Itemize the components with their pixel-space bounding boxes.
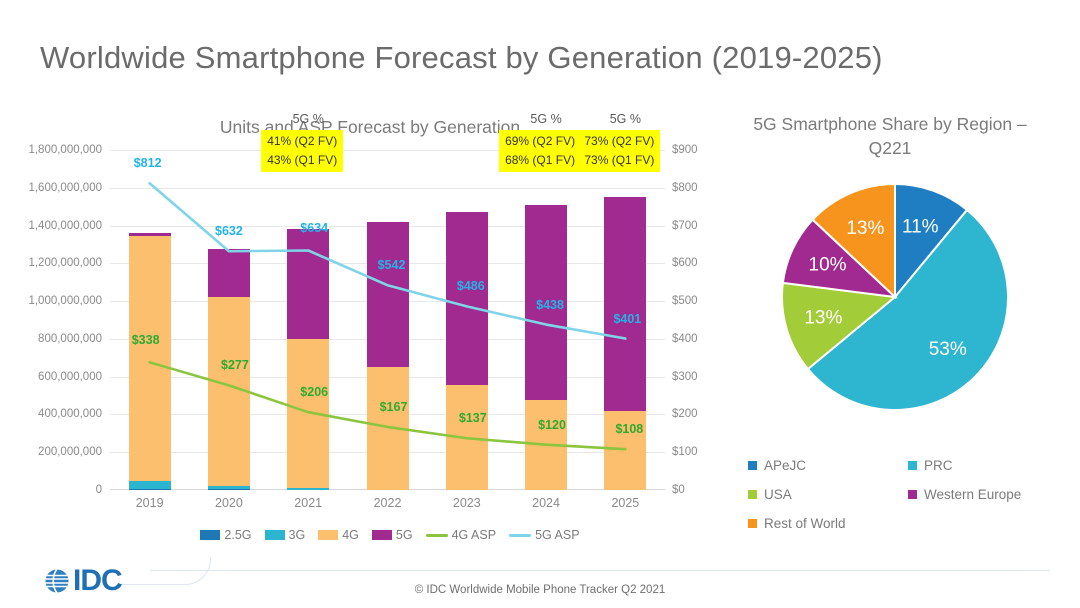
y-axis-tick-left: 1,800,000,000 xyxy=(28,144,102,156)
data-label-4g-asp: $108 xyxy=(615,422,643,436)
legend-label: 3G xyxy=(289,528,306,542)
y-axis-tick-left: 1,000,000,000 xyxy=(28,295,102,307)
y-axis-tick-left: 400,000,000 xyxy=(38,408,102,420)
pie-legend-item-apejc[interactable]: APeJC xyxy=(748,458,908,473)
region-share-pie-chart: 11%53%13%10%13% xyxy=(700,150,1080,450)
legend-swatch xyxy=(509,534,531,537)
callout-header: 5G % xyxy=(293,112,324,126)
y-axis-tick-right: $500 xyxy=(672,295,698,307)
pie-legend-swatch xyxy=(908,461,917,470)
x-axis-tick: 2025 xyxy=(590,496,660,510)
pie-chart-legend: APeJCPRCUSAWestern EuropeRest of World xyxy=(748,458,1068,545)
data-label-5g-asp: $812 xyxy=(134,156,162,170)
x-axis-tick: 2019 xyxy=(115,496,185,510)
pie-legend-swatch xyxy=(748,461,757,470)
y-axis-tick-left: 600,000,000 xyxy=(38,371,102,383)
callout-box-2024: 69% (Q2 FV)68% (Q1 FV) xyxy=(499,130,581,172)
callout-header: 5G % xyxy=(530,112,561,126)
page-title: Worldwide Smartphone Forecast by Generat… xyxy=(40,40,883,76)
pie-slice-value: 13% xyxy=(846,218,884,239)
y-axis-tick-right: $100 xyxy=(672,446,698,458)
pie-slice-value: 11% xyxy=(902,216,939,237)
legend-label: 5G xyxy=(396,528,413,542)
pie-legend-item-prc[interactable]: PRC xyxy=(908,458,1068,473)
legend-swatch xyxy=(265,530,285,540)
y-axis-tick-right: $400 xyxy=(672,333,698,345)
callout-line: 69% (Q2 FV) xyxy=(505,132,575,151)
callout-header: 5G % xyxy=(610,112,641,126)
pie-legend-swatch xyxy=(748,490,757,499)
data-label-5g-asp: $632 xyxy=(215,224,243,238)
callout-box-2025: 73% (Q2 FV)73% (Q1 FV) xyxy=(578,130,660,172)
data-label-5g-asp: $486 xyxy=(457,279,485,293)
legend-item-25g[interactable]: 2.5G xyxy=(200,528,251,542)
y-axis-tick-right: $0 xyxy=(672,484,685,496)
legend-item-3g[interactable]: 3G xyxy=(265,528,306,542)
data-label-4g-asp: $167 xyxy=(380,400,408,414)
data-label-4g-asp: $277 xyxy=(221,358,249,372)
pie-legend-item-westerneurope[interactable]: Western Europe xyxy=(908,487,1068,502)
asp-line-overlay xyxy=(110,150,665,490)
legend-item-4gasp[interactable]: 4G ASP xyxy=(426,528,496,542)
y-axis-tick-right: $600 xyxy=(672,257,698,269)
pie-slice-value: 53% xyxy=(929,339,967,360)
y-axis-tick-right: $700 xyxy=(672,220,698,232)
legend-swatch xyxy=(200,530,220,540)
x-axis-tick: 2021 xyxy=(273,496,343,510)
pie-legend-label: USA xyxy=(764,487,792,502)
legend-swatch xyxy=(372,530,392,540)
callout-line: 68% (Q1 FV) xyxy=(505,151,575,170)
legend-label: 4G ASP xyxy=(452,528,496,542)
data-label-5g-asp: $634 xyxy=(300,221,328,235)
pie-legend-label: Rest of World xyxy=(764,516,846,531)
x-axis-tick: 2024 xyxy=(511,496,581,510)
pie-legend-swatch xyxy=(908,490,917,499)
legend-item-5gasp[interactable]: 5G ASP xyxy=(509,528,579,542)
pie-legend-item-restofworld[interactable]: Rest of World xyxy=(748,516,908,531)
legend-swatch xyxy=(318,530,338,540)
y-axis-left: 0200,000,000400,000,000600,000,000800,00… xyxy=(0,150,102,490)
footer: IDC © IDC Worldwide Mobile Phone Tracker… xyxy=(0,556,1080,608)
y-axis-tick-right: $200 xyxy=(672,408,698,420)
units-asp-bar-chart: 0200,000,000400,000,000600,000,000800,00… xyxy=(0,150,700,550)
callout-line: 43% (Q1 FV) xyxy=(267,151,337,170)
pie-slice-value: 10% xyxy=(809,255,847,276)
y-axis-tick-left: 1,400,000,000 xyxy=(28,220,102,232)
data-label-5g-asp: $438 xyxy=(536,298,564,312)
pie-svg: 11%53%13%10%13% xyxy=(775,172,1025,424)
y-axis-tick-left: 1,200,000,000 xyxy=(28,257,102,269)
footer-divider xyxy=(150,570,1050,571)
data-label-4g-asp: $120 xyxy=(538,418,566,432)
data-label-5g-asp: $401 xyxy=(613,312,641,326)
data-label-4g-asp: $206 xyxy=(300,385,328,399)
legend-label: 4G xyxy=(342,528,359,542)
callout-line: 73% (Q2 FV) xyxy=(584,132,654,151)
footer-swoosh-decoration xyxy=(120,558,211,585)
pie-legend-label: APeJC xyxy=(764,458,806,473)
data-label-4g-asp: $137 xyxy=(459,411,487,425)
legend-label: 5G ASP xyxy=(535,528,579,542)
data-label-4g-asp: $338 xyxy=(132,333,160,347)
pie-legend-swatch xyxy=(748,519,757,528)
bar-chart-legend: 2.5G3G4G5G4G ASP5G ASP xyxy=(110,528,670,542)
data-label-5g-asp: $542 xyxy=(378,258,406,272)
bar-plot-area: 2019202020212022202320242025$338$277$206… xyxy=(110,150,665,490)
pie-legend-item-usa[interactable]: USA xyxy=(748,487,908,502)
y-axis-tick-left: 800,000,000 xyxy=(38,333,102,345)
pie-legend-label: PRC xyxy=(924,458,953,473)
pie-legend-label: Western Europe xyxy=(924,487,1021,502)
x-axis-tick: 2022 xyxy=(353,496,423,510)
y-axis-tick-right: $900 xyxy=(672,144,698,156)
footer-copyright: © IDC Worldwide Mobile Phone Tracker Q2 … xyxy=(0,584,1080,596)
y-axis-tick-left: 1,600,000,000 xyxy=(28,182,102,194)
legend-item-4g[interactable]: 4G xyxy=(318,528,359,542)
callout-line: 73% (Q1 FV) xyxy=(584,151,654,170)
x-axis-tick: 2023 xyxy=(432,496,502,510)
y-axis-tick-left: 200,000,000 xyxy=(38,446,102,458)
y-axis-tick-right: $300 xyxy=(672,371,698,383)
legend-item-5g[interactable]: 5G xyxy=(372,528,413,542)
legend-swatch xyxy=(426,534,448,537)
pie-slice-value: 13% xyxy=(804,307,842,328)
x-axis-tick: 2020 xyxy=(194,496,264,510)
legend-label: 2.5G xyxy=(224,528,251,542)
callout-box-2021: 41% (Q2 FV)43% (Q1 FV) xyxy=(261,130,343,172)
y-axis-tick-left: 0 xyxy=(96,484,102,496)
y-axis-tick-right: $800 xyxy=(672,182,698,194)
slide-canvas: Worldwide Smartphone Forecast by Generat… xyxy=(0,0,1080,608)
callout-line: 41% (Q2 FV) xyxy=(267,132,337,151)
